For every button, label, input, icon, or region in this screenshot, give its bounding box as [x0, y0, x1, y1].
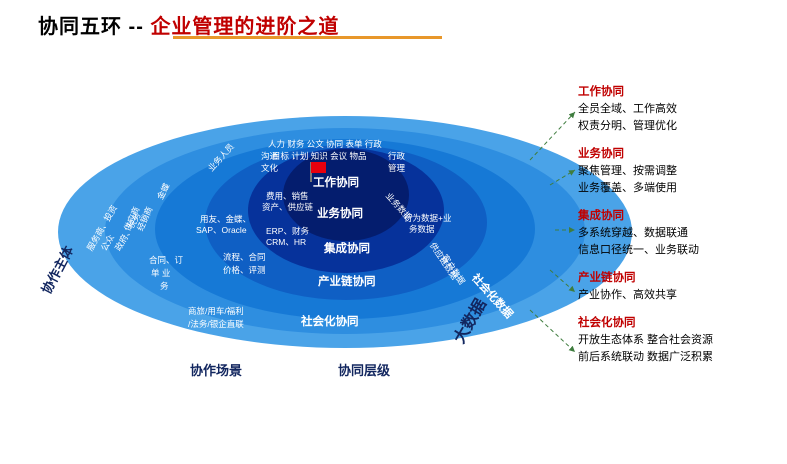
legend-block-work: 工作协同 全员全域、工作高效 权责分明、管理优化 — [578, 84, 783, 135]
legend-line-chain-1: 产业协作、高效共享 — [578, 287, 783, 304]
business-mid2-text: 资产、供应链 — [262, 201, 313, 213]
legend-line-work-2: 权责分明、管理优化 — [578, 118, 783, 135]
legend-block-social: 社会化协同 开放生态体系 整合社会资源 前后系统联动 数据广泛积累 — [578, 315, 783, 366]
chain-mid2-text: 单 业 — [151, 267, 170, 279]
chain-mid3-text: 务 — [160, 280, 169, 292]
legend-head-business: 业务协同 — [578, 146, 783, 163]
social-mid2-text: /法务/银企直联 — [188, 318, 244, 330]
title-main: 协同五环 — [38, 16, 122, 38]
page-title: 协同五环 -- 企业管理的进阶之道 — [38, 10, 339, 39]
legend-line-work-1: 全员全域、工作高效 — [578, 101, 783, 118]
core-row2-text: 目标 计划 知识 会议 物品 — [272, 150, 366, 162]
integration-mid2-text: SAP、Oracle — [196, 224, 247, 236]
legend-line-business-1: 聚焦管理、按需调整 — [578, 163, 783, 180]
core-row1-text: 人力 财务 公文 协同 表单 行政 — [268, 138, 382, 150]
legend-head-chain: 产业链协同 — [578, 270, 783, 287]
ring-label-social: 社会化协同 — [301, 313, 359, 329]
chain-mid1-text: 合同、订 — [149, 254, 183, 266]
red-flag-icon — [311, 162, 326, 173]
chain-mid4-text: 流程、合同 — [223, 251, 266, 263]
legend-line-business-2: 业务覆盖、多端使用 — [578, 180, 783, 197]
legend-head-work: 工作协同 — [578, 84, 783, 101]
title-dash: -- — [122, 16, 150, 38]
ring-label-work: 工作协同 — [313, 174, 359, 190]
outer-label-level: 协同层级 — [338, 360, 390, 379]
legend-block-business: 业务协同 聚焦管理、按需调整 业务覆盖、多端使用 — [578, 146, 783, 197]
legend-panel: 工作协同 全员全域、工作高效 权责分明、管理优化 业务协同 聚焦管理、按需调整 … — [578, 84, 783, 377]
legend-line-integration-2: 信息口径统一、业务联动 — [578, 242, 783, 259]
diagram-canvas: 协同五环 -- 企业管理的进阶之道 人力 财务 公文 协同 表单 行政 目标 计… — [0, 0, 787, 464]
business-erp2-text: CRM、HR — [266, 236, 306, 248]
core-left1-text: 沟通 — [261, 150, 278, 162]
legend-line-integration-1: 多系统穿越、数据联通 — [578, 225, 783, 242]
outer-label-subject: 协作主体 — [36, 242, 77, 297]
connector-arrows — [400, 80, 590, 380]
social-mid1-text: 商旅/用车/福利 — [188, 305, 244, 317]
legend-head-integration: 集成协同 — [578, 208, 783, 225]
ring-label-integration: 集成协同 — [324, 240, 370, 256]
ring-label-business: 业务协同 — [317, 205, 363, 221]
legend-block-integration: 集成协同 多系统穿越、数据联通 信息口径统一、业务联动 — [578, 208, 783, 259]
outer-label-scene: 协作场景 — [190, 360, 242, 379]
core-left2-text: 文化 — [261, 162, 278, 174]
legend-line-social-2: 前后系统联动 数据广泛积累 — [578, 349, 783, 366]
legend-head-social: 社会化协同 — [578, 315, 783, 332]
title-sub: 企业管理的进阶之道 — [150, 16, 339, 38]
title-underline — [173, 36, 442, 39]
chain-mid5-text: 价格、评测 — [223, 264, 266, 276]
ring-label-chain: 产业链协同 — [318, 273, 376, 289]
legend-block-chain: 产业链协同 产业协作、高效共享 — [578, 270, 783, 304]
legend-line-social-1: 开放生态体系 整合社会资源 — [578, 332, 783, 349]
